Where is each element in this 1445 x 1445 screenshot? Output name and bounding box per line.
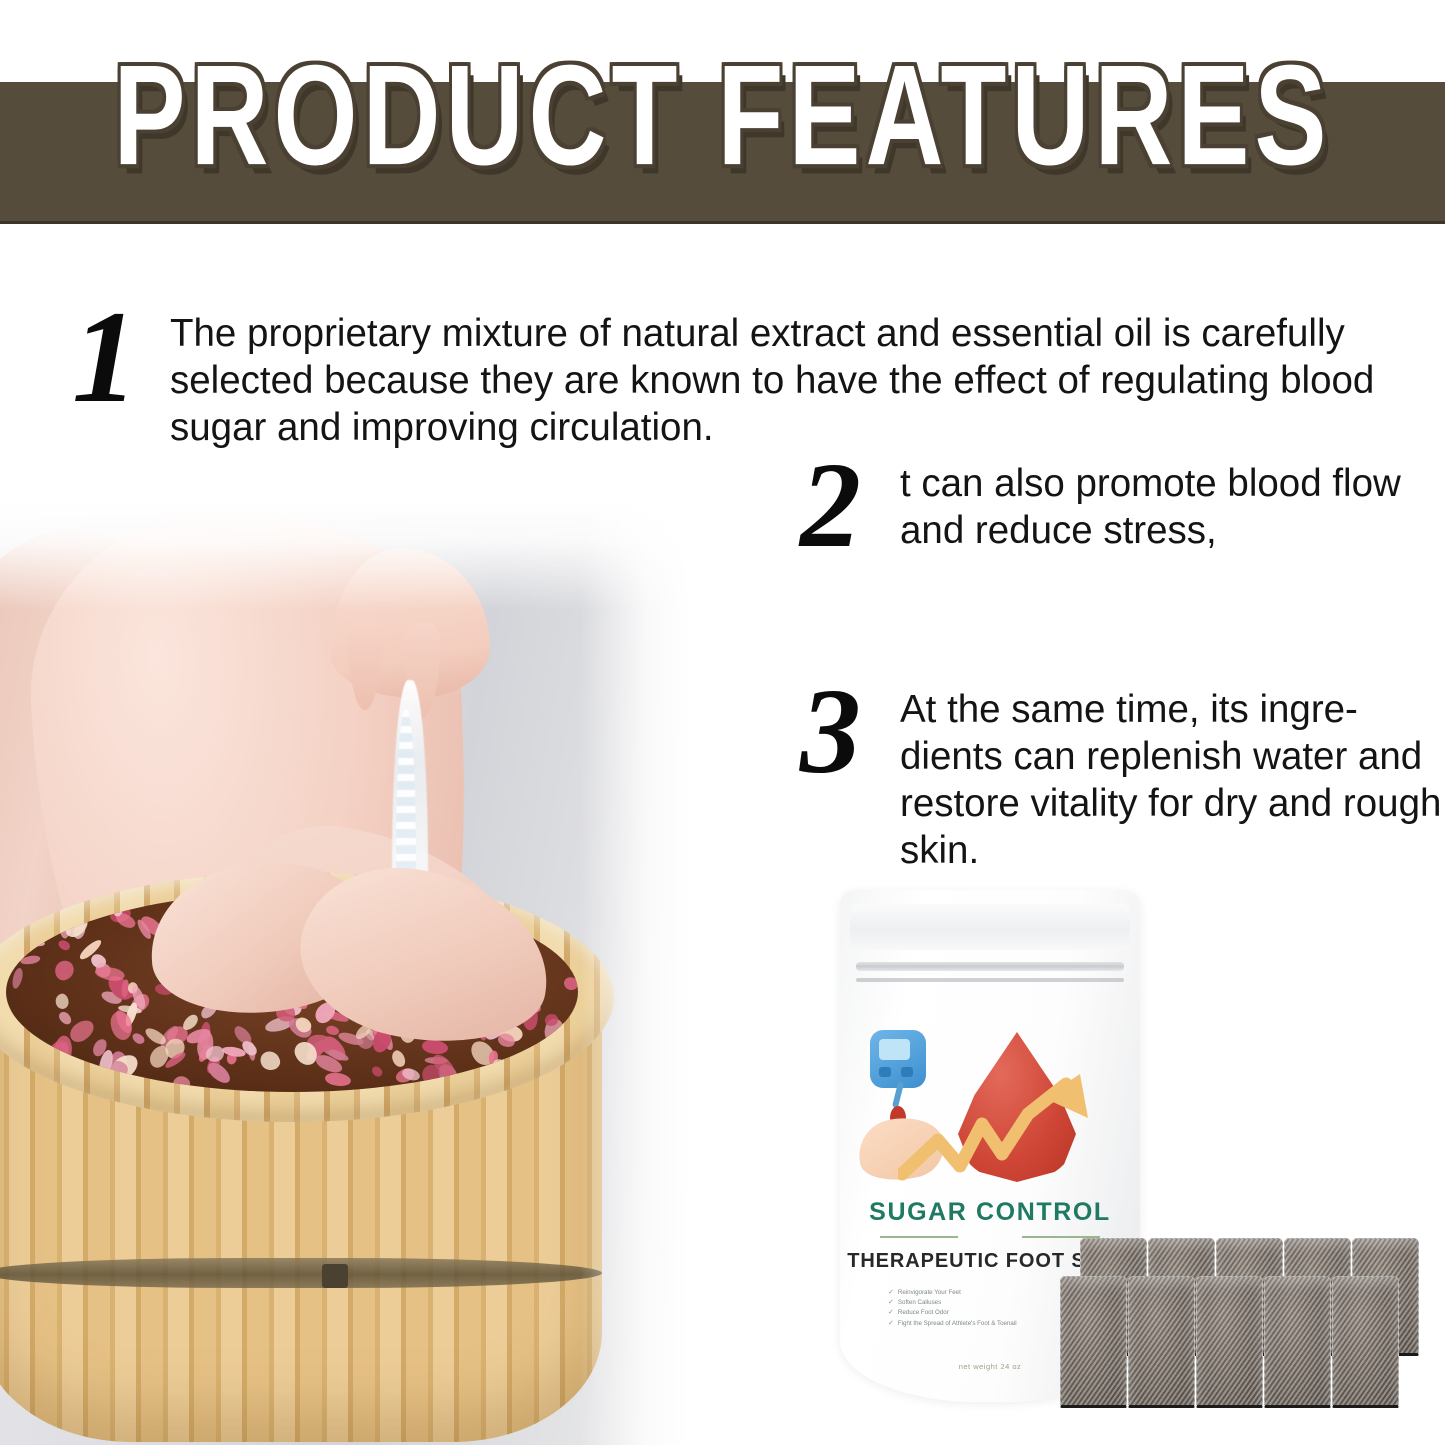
basin-metal-hoop (0, 1258, 602, 1288)
foot-bath-photo (0, 500, 690, 1445)
feature-item-2: 2 t can also promote blood flow and redu… (800, 450, 1445, 562)
rose-petal (388, 1048, 408, 1069)
herbal-sachet (1332, 1276, 1399, 1408)
pouch-zip-seal-shadow (856, 978, 1124, 982)
pouch-zip-seal (856, 962, 1124, 971)
check-icon: ✓ (888, 1298, 894, 1308)
feature-item-1: 1 The proprietary mixture of natural ext… (72, 296, 1402, 451)
rose-petal (53, 959, 76, 982)
rose-petal (20, 955, 41, 965)
product-package-group: SUGAR CONTROL THERAPEUTIC FOOT SOAK ✓Rei… (828, 890, 1428, 1420)
sachet-row-front (1060, 1276, 1400, 1408)
rose-petal (39, 917, 60, 931)
feature-number-1: 1 (72, 296, 170, 417)
wooden-foot-basin (0, 872, 630, 1445)
rose-petal (17, 935, 46, 947)
herbal-sachet (1128, 1276, 1195, 1408)
rose-petal (258, 1049, 282, 1072)
meter-button-left (879, 1067, 891, 1077)
benefit-label: Soften Calluses (898, 1298, 941, 1308)
herbal-sachet (1196, 1276, 1263, 1408)
rose-petal (79, 1064, 99, 1088)
photo-right-fade (580, 500, 690, 1445)
rose-petal (37, 1069, 60, 1081)
rose-petal (53, 992, 70, 1011)
herbal-sachet (1264, 1276, 1331, 1408)
feature-text-2: t can also promote blood flow and reduce… (900, 450, 1445, 554)
basin-hoop-clip (322, 1264, 348, 1288)
rose-petal (11, 967, 26, 990)
rose-petal (56, 1010, 73, 1027)
feature-number-2: 2 (800, 450, 900, 562)
pouch-top-seal (850, 904, 1130, 950)
check-icon: ✓ (888, 1319, 894, 1329)
check-icon: ✓ (888, 1288, 894, 1298)
rose-petal (568, 1026, 578, 1055)
benefit-label: Fight the Spread of Athlete's Foot & Toe… (898, 1319, 1017, 1329)
brand-name: SUGAR CONTROL (840, 1198, 1140, 1227)
herbal-sachet (1060, 1276, 1127, 1408)
rose-petal (56, 938, 71, 952)
brand-rule-left (880, 1236, 958, 1238)
rose-petal (130, 1031, 146, 1046)
rose-petal (324, 1070, 352, 1088)
rose-petal (567, 955, 578, 967)
basin-rim (0, 872, 614, 1122)
trend-arrow-icon (898, 1070, 1108, 1190)
rose-petal (561, 974, 578, 993)
rose-petal (539, 1069, 555, 1087)
feature-item-3: 3 At the same time, its ingre-dients can… (800, 676, 1445, 874)
sugar-control-logo (840, 1020, 1140, 1195)
feature-text-3: At the same time, its ingre-dients can r… (900, 676, 1445, 874)
sachet-stack (1060, 1238, 1422, 1438)
feature-text-1: The proprietary mixture of natural extra… (170, 296, 1386, 451)
meter-screen (879, 1039, 910, 1060)
benefit-label: Reduce Foot Odor (898, 1308, 949, 1318)
header-banner (0, 82, 1445, 224)
benefit-label: Reinvigorate Your Feet (898, 1288, 961, 1298)
rose-petal (170, 1072, 193, 1092)
product-features-infographic: PRODUCT FEATURES 1 The proprietary mixtu… (0, 0, 1445, 1445)
feature-number-3: 3 (800, 676, 900, 788)
check-icon: ✓ (888, 1308, 894, 1318)
rose-petal (370, 1065, 384, 1079)
